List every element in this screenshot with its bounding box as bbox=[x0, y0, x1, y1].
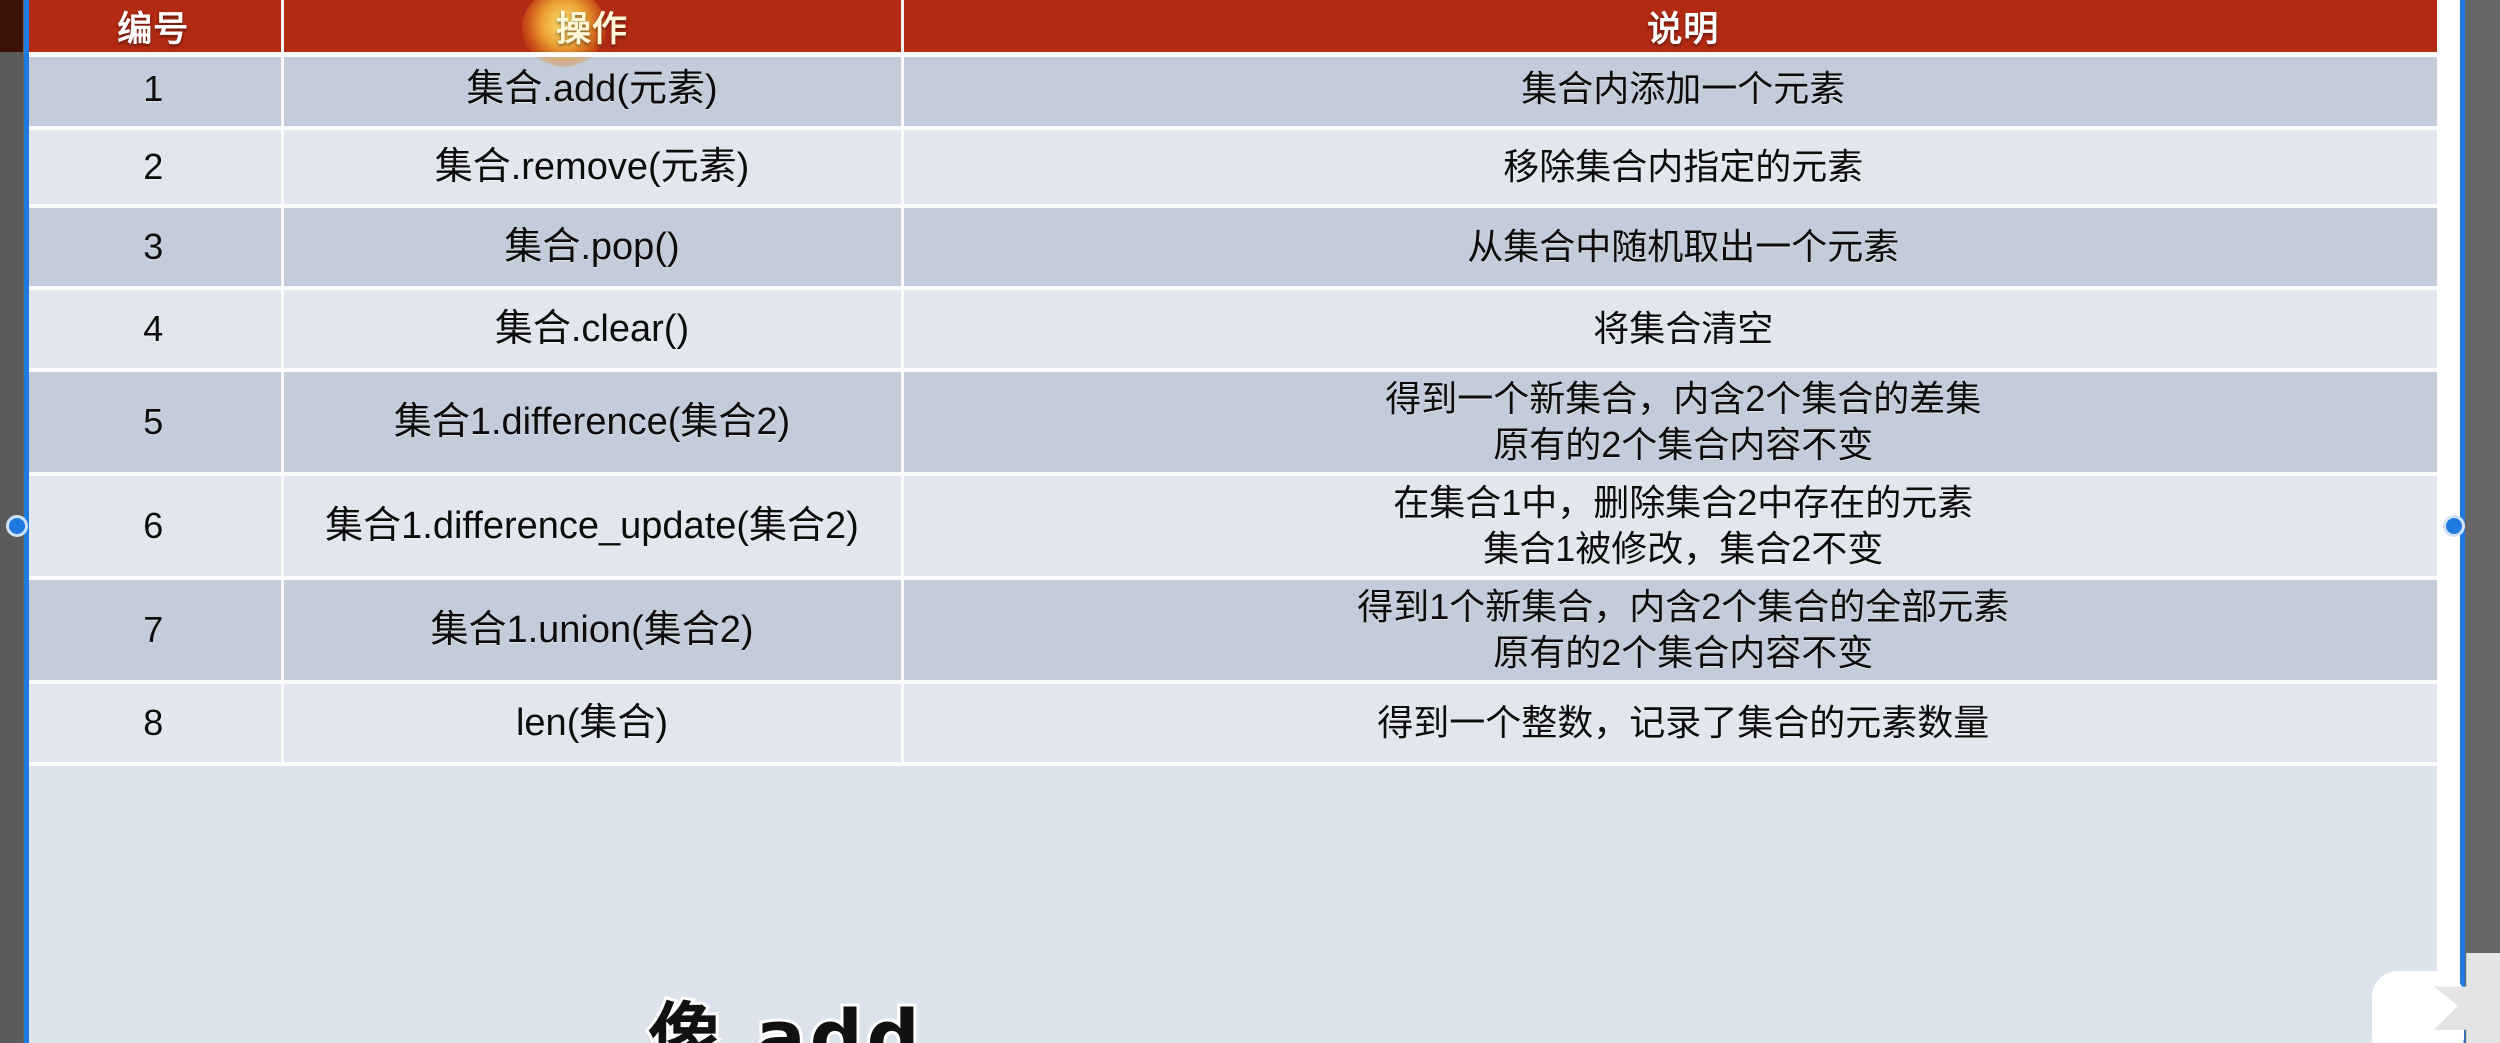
column-header-operation[interactable]: 操作 bbox=[282, 0, 902, 52]
desc-line-2: 原有的2个集合内容不变 bbox=[912, 422, 2456, 468]
cell-operation: 集合1.difference(集合2) bbox=[282, 370, 902, 474]
cell-number: 1 bbox=[26, 52, 282, 128]
cell-operation: 集合.clear() bbox=[282, 288, 902, 370]
desc-line-1: 得到一个新集合，内含2个集合的差集 bbox=[1385, 378, 1981, 419]
set-methods-table: 编号 操作 说明 1 集合.add(元素) 集合内添加一个元素 bbox=[26, 0, 2463, 766]
cell-number: 2 bbox=[26, 128, 282, 206]
desc-line-1: 从集合中随机取出一个元素 bbox=[1467, 226, 1899, 267]
cell-operation: 集合1.union(集合2) bbox=[282, 578, 902, 682]
table-header: 编号 操作 说明 bbox=[26, 0, 2463, 52]
cell-description: 得到一个新集合，内含2个集合的差集 原有的2个集合内容不变 bbox=[902, 370, 2463, 474]
desc-line-1: 得到一个整数，记录了集合的元素数量 bbox=[1377, 702, 1989, 743]
cell-number: 8 bbox=[26, 682, 282, 764]
table-row[interactable]: 3 集合.pop() 从集合中随机取出一个元素 bbox=[26, 206, 2463, 288]
left-background-strip-top bbox=[0, 0, 23, 52]
table-row[interactable]: 8 len(集合) 得到一个整数，记录了集合的元素数量 bbox=[26, 682, 2463, 764]
slide-canvas[interactable]: 编号 操作 说明 1 集合.add(元素) 集合内添加一个元素 bbox=[26, 0, 2463, 1043]
desc-line-1: 将集合清空 bbox=[1593, 308, 1773, 349]
table-row[interactable]: 2 集合.remove(元素) 移除集合内指定的元素 bbox=[26, 128, 2463, 206]
column-header-number-label: 编号 bbox=[117, 10, 189, 49]
desc-line-1: 得到1个新集合，内含2个集合的全部元素 bbox=[1357, 586, 2009, 627]
cell-number: 5 bbox=[26, 370, 282, 474]
cell-number: 7 bbox=[26, 578, 282, 682]
desc-line-2: 集合1被修改，集合2不变 bbox=[912, 526, 2456, 572]
cursor-blob bbox=[2372, 971, 2464, 1043]
column-header-description-label: 说明 bbox=[1647, 10, 1719, 49]
table-row[interactable]: 6 集合1.difference_update(集合2) 在集合1中，删除集合2… bbox=[26, 474, 2463, 578]
table-row[interactable]: 7 集合1.union(集合2) 得到1个新集合，内含2个集合的全部元素 原有的… bbox=[26, 578, 2463, 682]
desc-line-2: 原有的2个集合内容不变 bbox=[912, 630, 2456, 676]
table-body: 1 集合.add(元素) 集合内添加一个元素 2 集合.remove(元素) 移… bbox=[26, 52, 2463, 764]
desc-line-1: 移除集合内指定的元素 bbox=[1503, 146, 1863, 187]
cell-description: 从集合中随机取出一个元素 bbox=[902, 206, 2463, 288]
highlight-glow-icon: 操作 bbox=[556, 1, 628, 52]
cell-operation: len(集合) bbox=[282, 682, 902, 764]
cell-operation: 集合.add(元素) bbox=[282, 52, 902, 128]
cell-description: 得到一个整数，记录了集合的元素数量 bbox=[902, 682, 2463, 764]
selection-handle-right[interactable] bbox=[2443, 515, 2465, 537]
cell-operation: 集合1.difference_update(集合2) bbox=[282, 474, 902, 578]
cell-description: 在集合1中，删除集合2中存在的元素 集合1被修改，集合2不变 bbox=[902, 474, 2463, 578]
header-underline bbox=[26, 52, 2463, 57]
ink-annotation-text: 像 add bbox=[648, 978, 924, 1043]
cell-description: 移除集合内指定的元素 bbox=[902, 128, 2463, 206]
table-row[interactable]: 5 集合1.difference(集合2) 得到一个新集合，内含2个集合的差集 … bbox=[26, 370, 2463, 474]
column-header-operation-label: 操作 bbox=[556, 10, 628, 49]
cell-operation: 集合.pop() bbox=[282, 206, 902, 288]
cell-number: 4 bbox=[26, 288, 282, 370]
table-row[interactable]: 1 集合.add(元素) 集合内添加一个元素 bbox=[26, 52, 2463, 128]
selection-handle-left[interactable] bbox=[6, 515, 28, 537]
cell-operation: 集合.remove(元素) bbox=[282, 128, 902, 206]
cell-number: 6 bbox=[26, 474, 282, 578]
cell-description: 得到1个新集合，内含2个集合的全部元素 原有的2个集合内容不变 bbox=[902, 578, 2463, 682]
column-header-number[interactable]: 编号 bbox=[26, 0, 282, 52]
table-row[interactable]: 4 集合.clear() 将集合清空 bbox=[26, 288, 2463, 370]
desc-line-1: 在集合1中，删除集合2中存在的元素 bbox=[1393, 482, 1973, 523]
column-header-description[interactable]: 说明 bbox=[902, 0, 2463, 52]
cell-number: 3 bbox=[26, 206, 282, 288]
cell-description: 集合内添加一个元素 bbox=[902, 52, 2463, 128]
desc-line-1: 集合内添加一个元素 bbox=[1521, 68, 1845, 109]
cell-description: 将集合清空 bbox=[902, 288, 2463, 370]
table-header-row: 编号 操作 说明 bbox=[26, 0, 2463, 52]
cursor-pointer-icon bbox=[2372, 953, 2492, 1043]
